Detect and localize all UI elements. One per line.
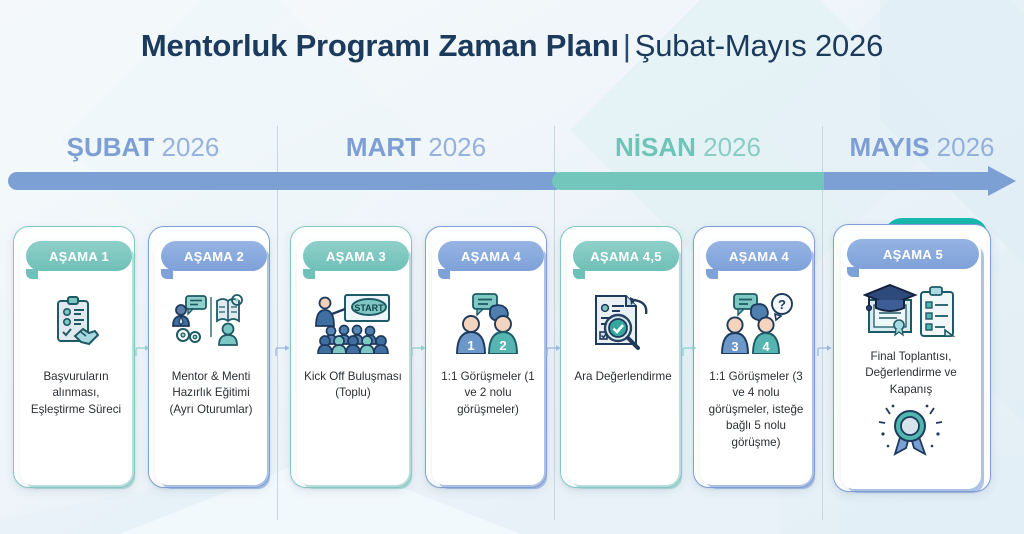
stage-text-4: 1:1 Görüşmeler (1 ve 2 nolu görüşmeler) bbox=[432, 369, 544, 418]
stage-badge-4: AŞAMA 4 bbox=[438, 241, 544, 271]
month-header-row: ŞUBAT 2026 MART 2026 NİSAN 2026 MAYIS 20… bbox=[0, 132, 1024, 176]
svg-text:?: ? bbox=[778, 297, 786, 312]
stage-text-2: Mentor & Menti Hazırlık Eğitimi (Ayrı Ot… bbox=[155, 369, 267, 418]
title-separator: | bbox=[623, 28, 631, 63]
stage-card-7[interactable]: AŞAMA 5 bbox=[833, 224, 991, 492]
clipboard-handshake-icon bbox=[20, 283, 132, 363]
title-daterange: Şubat-Mayıs 2026 bbox=[635, 28, 883, 63]
connector-arrow-1 bbox=[134, 342, 152, 360]
month-label-mart: MART 2026 bbox=[278, 132, 554, 163]
month-label-subat: ŞUBAT 2026 bbox=[8, 132, 278, 163]
stage-card-3[interactable]: AŞAMA 3 START bbox=[290, 226, 412, 488]
month-year: 2026 bbox=[937, 132, 995, 162]
stage-text-5: Ara Değerlendirme bbox=[568, 369, 677, 385]
kickoff-start-label: START bbox=[354, 303, 384, 313]
page-title: Mentorluk Programı Zaman Planı|Şubat-May… bbox=[0, 28, 1024, 64]
month-name: MART bbox=[346, 132, 421, 162]
month-year: 2026 bbox=[162, 132, 220, 162]
stage-badge-6: AŞAMA 4 bbox=[706, 241, 812, 271]
one-to-one-meeting-question-icon: ? 3 4 bbox=[700, 283, 812, 363]
connector-arrow-5 bbox=[681, 342, 699, 360]
stage-badge-3: AŞAMA 3 bbox=[303, 241, 409, 271]
month-label-mayis: MAYIS 2026 bbox=[822, 132, 1022, 163]
meeting-number-1: 1 bbox=[467, 338, 474, 353]
stage-card-6[interactable]: AŞAMA 4 ? 3 4 bbox=[693, 226, 815, 488]
month-name: ŞUBAT bbox=[67, 132, 155, 162]
connector-arrow-4 bbox=[545, 342, 563, 360]
stage-text-3: Kick Off Buluşması (Toplu) bbox=[297, 369, 409, 402]
kickoff-presentation-icon: START bbox=[297, 283, 409, 363]
month-label-nisan: NİSAN 2026 bbox=[554, 132, 822, 163]
meeting-number-2: 2 bbox=[499, 338, 506, 353]
stage-badge-7: AŞAMA 5 bbox=[847, 239, 979, 269]
title-main: Mentorluk Programı Zaman Planı bbox=[141, 28, 619, 63]
stage-badge-1: AŞAMA 1 bbox=[26, 241, 132, 271]
stage-card-row: AŞAMA 1 Başvuruların alınması, Eşleş bbox=[0, 218, 1024, 498]
month-year: 2026 bbox=[428, 132, 486, 162]
one-to-one-meeting-icon: 1 2 bbox=[432, 283, 544, 363]
stage-text-1: Başvuruların alınması, Eşleştirme Süreci bbox=[20, 369, 132, 418]
mentor-training-icon bbox=[155, 283, 267, 363]
meeting-number-4: 4 bbox=[762, 339, 770, 354]
month-name: MAYIS bbox=[849, 132, 929, 162]
stage-badge-5: AŞAMA 4,5 bbox=[573, 241, 679, 271]
connector-arrow-6 bbox=[816, 342, 834, 360]
connector-arrow-2 bbox=[274, 342, 292, 360]
connector-arrow-3 bbox=[410, 342, 428, 360]
meeting-number-3: 3 bbox=[731, 339, 738, 354]
stage-card-5[interactable]: AŞAMA 4,5 bbox=[560, 226, 682, 488]
stage-text-7: Final Toplantısı, Değerlendirme ve Kapan… bbox=[841, 349, 981, 398]
award-rosette-icon bbox=[876, 402, 946, 458]
graduation-certificate-icon bbox=[841, 279, 981, 345]
month-year: 2026 bbox=[703, 132, 761, 162]
stage-text-6: 1:1 Görüşmeler (3 ve 4 nolu görüşmeler, … bbox=[700, 369, 812, 451]
stage-card-2[interactable]: AŞAMA 2 bbox=[148, 226, 270, 488]
month-name: NİSAN bbox=[615, 132, 696, 162]
stage-card-1[interactable]: AŞAMA 1 Başvuruların alınması, Eşleş bbox=[13, 226, 135, 488]
stage-card-4[interactable]: AŞAMA 4 1 2 1:1 Görüşmeler (1 ve 2 nol bbox=[425, 226, 547, 488]
document-review-icon bbox=[567, 283, 679, 363]
stage-badge-2: AŞAMA 2 bbox=[161, 241, 267, 271]
